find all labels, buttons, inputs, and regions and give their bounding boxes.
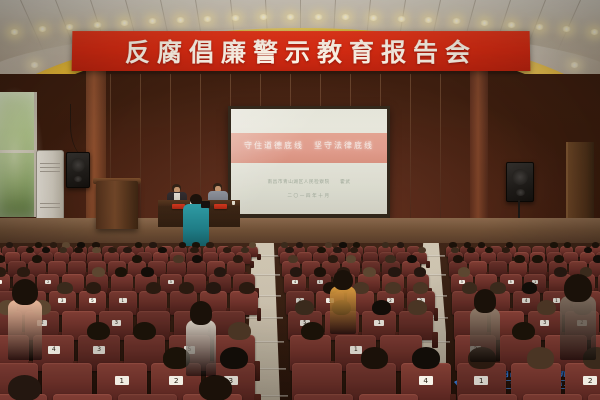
seat-armrest bbox=[254, 394, 261, 400]
seat-number-label: 3 bbox=[93, 346, 105, 354]
audience-head bbox=[149, 242, 156, 248]
seat-number-label: 2 bbox=[169, 376, 183, 386]
seat-number-label: 1 bbox=[474, 376, 488, 386]
downlight bbox=[535, 24, 544, 30]
audience-member bbox=[470, 308, 500, 362]
downlight bbox=[314, 14, 323, 20]
audience-head bbox=[108, 247, 116, 253]
auditorium-seat: 3 bbox=[118, 394, 177, 400]
audience-head bbox=[141, 267, 153, 277]
audience-head bbox=[50, 242, 57, 248]
audience-head bbox=[6, 242, 13, 248]
audience-head bbox=[92, 247, 100, 253]
slide-title-text: 守住道德底线 坚守法律底线 bbox=[231, 140, 387, 151]
audience-head bbox=[413, 282, 428, 294]
downlight bbox=[259, 14, 268, 20]
projection-screen: 守住道德底线 坚守法律底线 南昌市青山湖区人民检察院 霍武 二〇一四年十月 bbox=[231, 109, 387, 214]
audience-head bbox=[290, 267, 302, 277]
downlight bbox=[397, 16, 406, 22]
downlight bbox=[590, 29, 599, 35]
audience-head bbox=[514, 255, 524, 263]
audience-head bbox=[382, 242, 389, 248]
audience-head bbox=[8, 375, 41, 400]
downlight bbox=[10, 29, 19, 35]
audience-head bbox=[288, 255, 298, 263]
audience-head bbox=[408, 300, 427, 315]
audience-head bbox=[554, 267, 566, 277]
event-banner: 反腐倡廉警示教育报告会 bbox=[72, 31, 531, 71]
audience-head bbox=[296, 242, 303, 248]
audience-head bbox=[192, 255, 202, 263]
seat-number-label: 2 bbox=[583, 376, 597, 386]
audience-head bbox=[522, 282, 537, 294]
loudspeaker-left bbox=[66, 152, 90, 188]
auditorium-seat bbox=[53, 394, 112, 400]
seat-number-label: 4 bbox=[48, 346, 60, 354]
audience-member bbox=[560, 296, 596, 360]
audience-head bbox=[206, 282, 221, 294]
name-placard-2 bbox=[214, 204, 227, 209]
audience-head bbox=[0, 255, 5, 263]
audience-head bbox=[592, 242, 599, 248]
audience-head bbox=[453, 255, 463, 263]
event-banner-text: 反腐倡廉警示教育报告会 bbox=[125, 33, 478, 69]
downlight bbox=[369, 15, 378, 21]
audience-head bbox=[295, 300, 314, 315]
camera bbox=[201, 201, 210, 208]
audience-head bbox=[564, 242, 571, 248]
seat-number-label: 1 bbox=[115, 376, 129, 386]
downlight bbox=[480, 20, 489, 26]
audience-head bbox=[12, 279, 38, 306]
seat-number-label: 1 bbox=[350, 346, 362, 354]
downlight bbox=[38, 26, 47, 32]
seat-number-label: 3 bbox=[168, 280, 174, 284]
audience-head bbox=[478, 242, 485, 248]
seat-armrest bbox=[257, 254, 260, 260]
air-conditioner-unit bbox=[36, 150, 64, 224]
downlight bbox=[452, 18, 461, 24]
seat-armrest bbox=[450, 394, 457, 400]
audience-head bbox=[385, 282, 400, 294]
auditorium-seat bbox=[588, 394, 600, 400]
audience-head bbox=[239, 282, 254, 294]
audience-head bbox=[414, 267, 426, 277]
audience-head bbox=[328, 255, 338, 263]
audience-head bbox=[593, 255, 600, 263]
audience-head bbox=[57, 282, 72, 294]
downlight bbox=[65, 24, 74, 30]
audience-head bbox=[333, 247, 341, 253]
audience-head bbox=[474, 289, 497, 312]
audience-head bbox=[412, 347, 440, 369]
audience-head bbox=[363, 267, 375, 277]
seat-number-label: 1 bbox=[119, 298, 127, 303]
audience-head bbox=[214, 267, 226, 277]
seat-number-label: 1 bbox=[317, 280, 323, 284]
downlight bbox=[424, 17, 433, 23]
seat-number-label: 3 bbox=[112, 320, 121, 327]
audience-head bbox=[17, 267, 29, 277]
seat-armrest bbox=[250, 261, 254, 268]
audience-head bbox=[146, 282, 161, 294]
seat-number-label: 3 bbox=[540, 320, 549, 327]
aisle-step bbox=[246, 317, 283, 319]
audience-head bbox=[87, 322, 110, 340]
audience-head bbox=[233, 255, 243, 263]
audience-head bbox=[158, 247, 166, 253]
audience-head bbox=[86, 282, 101, 294]
audience-head bbox=[190, 301, 213, 324]
audience-head bbox=[361, 347, 389, 369]
audience-head bbox=[346, 255, 356, 263]
seat-number-label: 1 bbox=[374, 320, 383, 327]
audience-head bbox=[314, 267, 326, 277]
audience-head bbox=[285, 247, 293, 253]
audience-head bbox=[249, 242, 256, 248]
audience-head bbox=[26, 247, 34, 253]
auditorium-seat bbox=[359, 394, 418, 400]
downlight bbox=[507, 22, 516, 28]
water-cup-2 bbox=[232, 201, 235, 205]
slide-date-text: 二〇一四年十月 bbox=[231, 193, 387, 199]
audience-head bbox=[317, 247, 325, 253]
seat-number-label: 4 bbox=[419, 376, 433, 386]
audience-head bbox=[115, 267, 127, 277]
seat-number-label: 5 bbox=[508, 280, 514, 284]
audience-head bbox=[550, 242, 557, 248]
audience-head bbox=[333, 270, 353, 290]
audience-head bbox=[35, 242, 42, 248]
audience-head bbox=[190, 247, 198, 253]
loudspeaker-right bbox=[506, 162, 534, 202]
downlight bbox=[203, 16, 212, 22]
audience-head bbox=[241, 247, 249, 253]
audience-head bbox=[92, 267, 104, 277]
seat-number-label: 2 bbox=[45, 280, 51, 284]
audience-head bbox=[220, 347, 248, 369]
audience-head bbox=[537, 300, 556, 315]
audience-head bbox=[74, 247, 82, 253]
audience-head bbox=[397, 242, 404, 248]
audience-member bbox=[8, 300, 42, 360]
audience-head bbox=[123, 247, 131, 253]
downlight bbox=[231, 15, 240, 21]
audience-head bbox=[388, 267, 400, 277]
audience-head bbox=[527, 347, 555, 369]
audience-head bbox=[325, 242, 332, 248]
audience-head bbox=[532, 255, 542, 263]
audience-head bbox=[385, 255, 395, 263]
audience-head bbox=[133, 322, 156, 340]
auditorium-seat bbox=[294, 394, 353, 400]
seat-armrest bbox=[426, 261, 430, 268]
audience-head bbox=[564, 274, 591, 302]
seat-number-label: 1 bbox=[0, 280, 2, 284]
auditorium-seat: 5 bbox=[458, 394, 517, 400]
audience-head bbox=[462, 282, 477, 294]
audience-head bbox=[458, 267, 470, 277]
audience-head bbox=[372, 300, 391, 315]
seat-armrest bbox=[254, 361, 260, 381]
seat-armrest bbox=[432, 332, 437, 348]
audience-head bbox=[132, 255, 142, 263]
seat-armrest bbox=[434, 308, 439, 321]
audience-head bbox=[173, 255, 183, 263]
auditorium-seat bbox=[523, 394, 582, 400]
seat-armrest bbox=[257, 308, 262, 321]
lectern bbox=[96, 181, 138, 229]
downlight bbox=[93, 22, 102, 28]
audience-head bbox=[199, 375, 232, 400]
audience-head bbox=[228, 322, 251, 340]
audience-head bbox=[32, 255, 42, 263]
audience-head bbox=[179, 242, 186, 248]
audience-head bbox=[135, 242, 142, 248]
seat-number-label: 3 bbox=[58, 298, 66, 303]
audience-head bbox=[407, 255, 417, 263]
audience-member bbox=[186, 320, 216, 376]
audience-head bbox=[301, 322, 324, 340]
audience-head bbox=[554, 255, 564, 263]
downlight bbox=[176, 17, 185, 23]
audience-head bbox=[206, 242, 213, 248]
audience-head bbox=[179, 282, 194, 294]
audience-member bbox=[330, 286, 356, 334]
auditorium-photo: 守住道德底线 坚守法律底线 南昌市青山湖区人民检察院 霍武 二〇一四年十月 反腐… bbox=[0, 0, 600, 400]
seat-number-label: 4 bbox=[522, 298, 530, 303]
slide-presenter-text: 南昌市青山湖区人民检察院 霍武 bbox=[231, 179, 387, 185]
audience-head bbox=[512, 322, 535, 340]
seat-number-label: 5 bbox=[89, 298, 97, 303]
seat-number-label: 4 bbox=[292, 280, 298, 284]
